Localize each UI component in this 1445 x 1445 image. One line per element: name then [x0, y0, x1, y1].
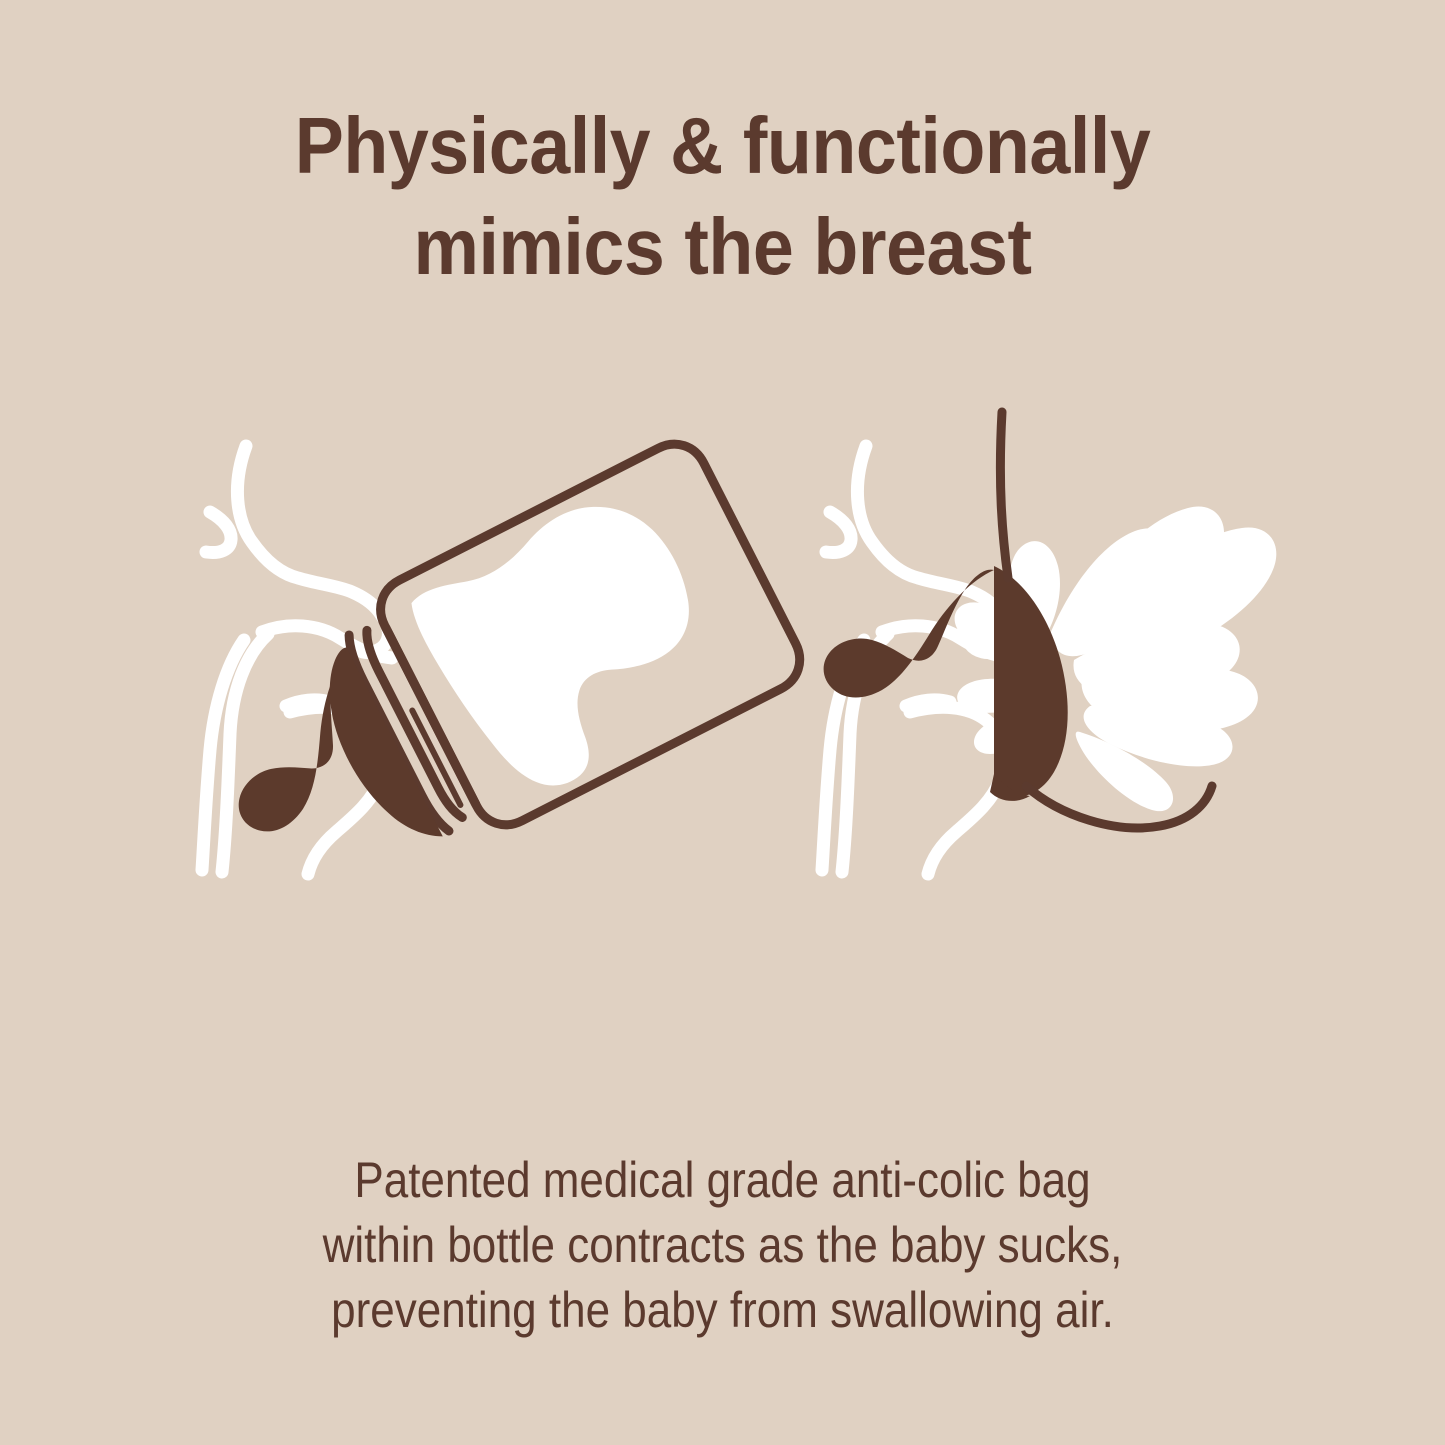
right-scene-breastfeeding: [822, 412, 1276, 874]
body-line-1: Patented medical grade anti-colic bag: [87, 1148, 1359, 1213]
chin-crease-line: [286, 700, 330, 706]
infographic-canvas: Physically & functionally mimics the bre…: [0, 0, 1445, 1445]
eye-line: [826, 512, 851, 553]
illustration-area: [0, 334, 1445, 954]
eye-line: [206, 512, 231, 553]
description-paragraph: Patented medical grade anti-colic bag wi…: [87, 1148, 1359, 1343]
headline-line-1: Physically & functionally: [58, 96, 1387, 197]
breast-shape: [824, 566, 1068, 801]
stem-lower: [1026, 786, 1212, 828]
stem-upper: [1000, 412, 1008, 578]
left-scene-bottle-feeding: [178, 433, 811, 933]
body-line-3: preventing the baby from swallowing air.: [87, 1278, 1359, 1343]
page-title: Physically & functionally mimics the bre…: [58, 96, 1387, 298]
chin-crease-line: [906, 700, 950, 706]
forehead-nose-line: [857, 446, 1002, 616]
illustration-svg: [0, 334, 1445, 954]
forehead-nose-line: [237, 446, 382, 616]
baby-bottle: [178, 433, 811, 933]
body-line-2: within bottle contracts as the baby suck…: [87, 1213, 1359, 1278]
headline-line-2: mimics the breast: [58, 197, 1387, 298]
